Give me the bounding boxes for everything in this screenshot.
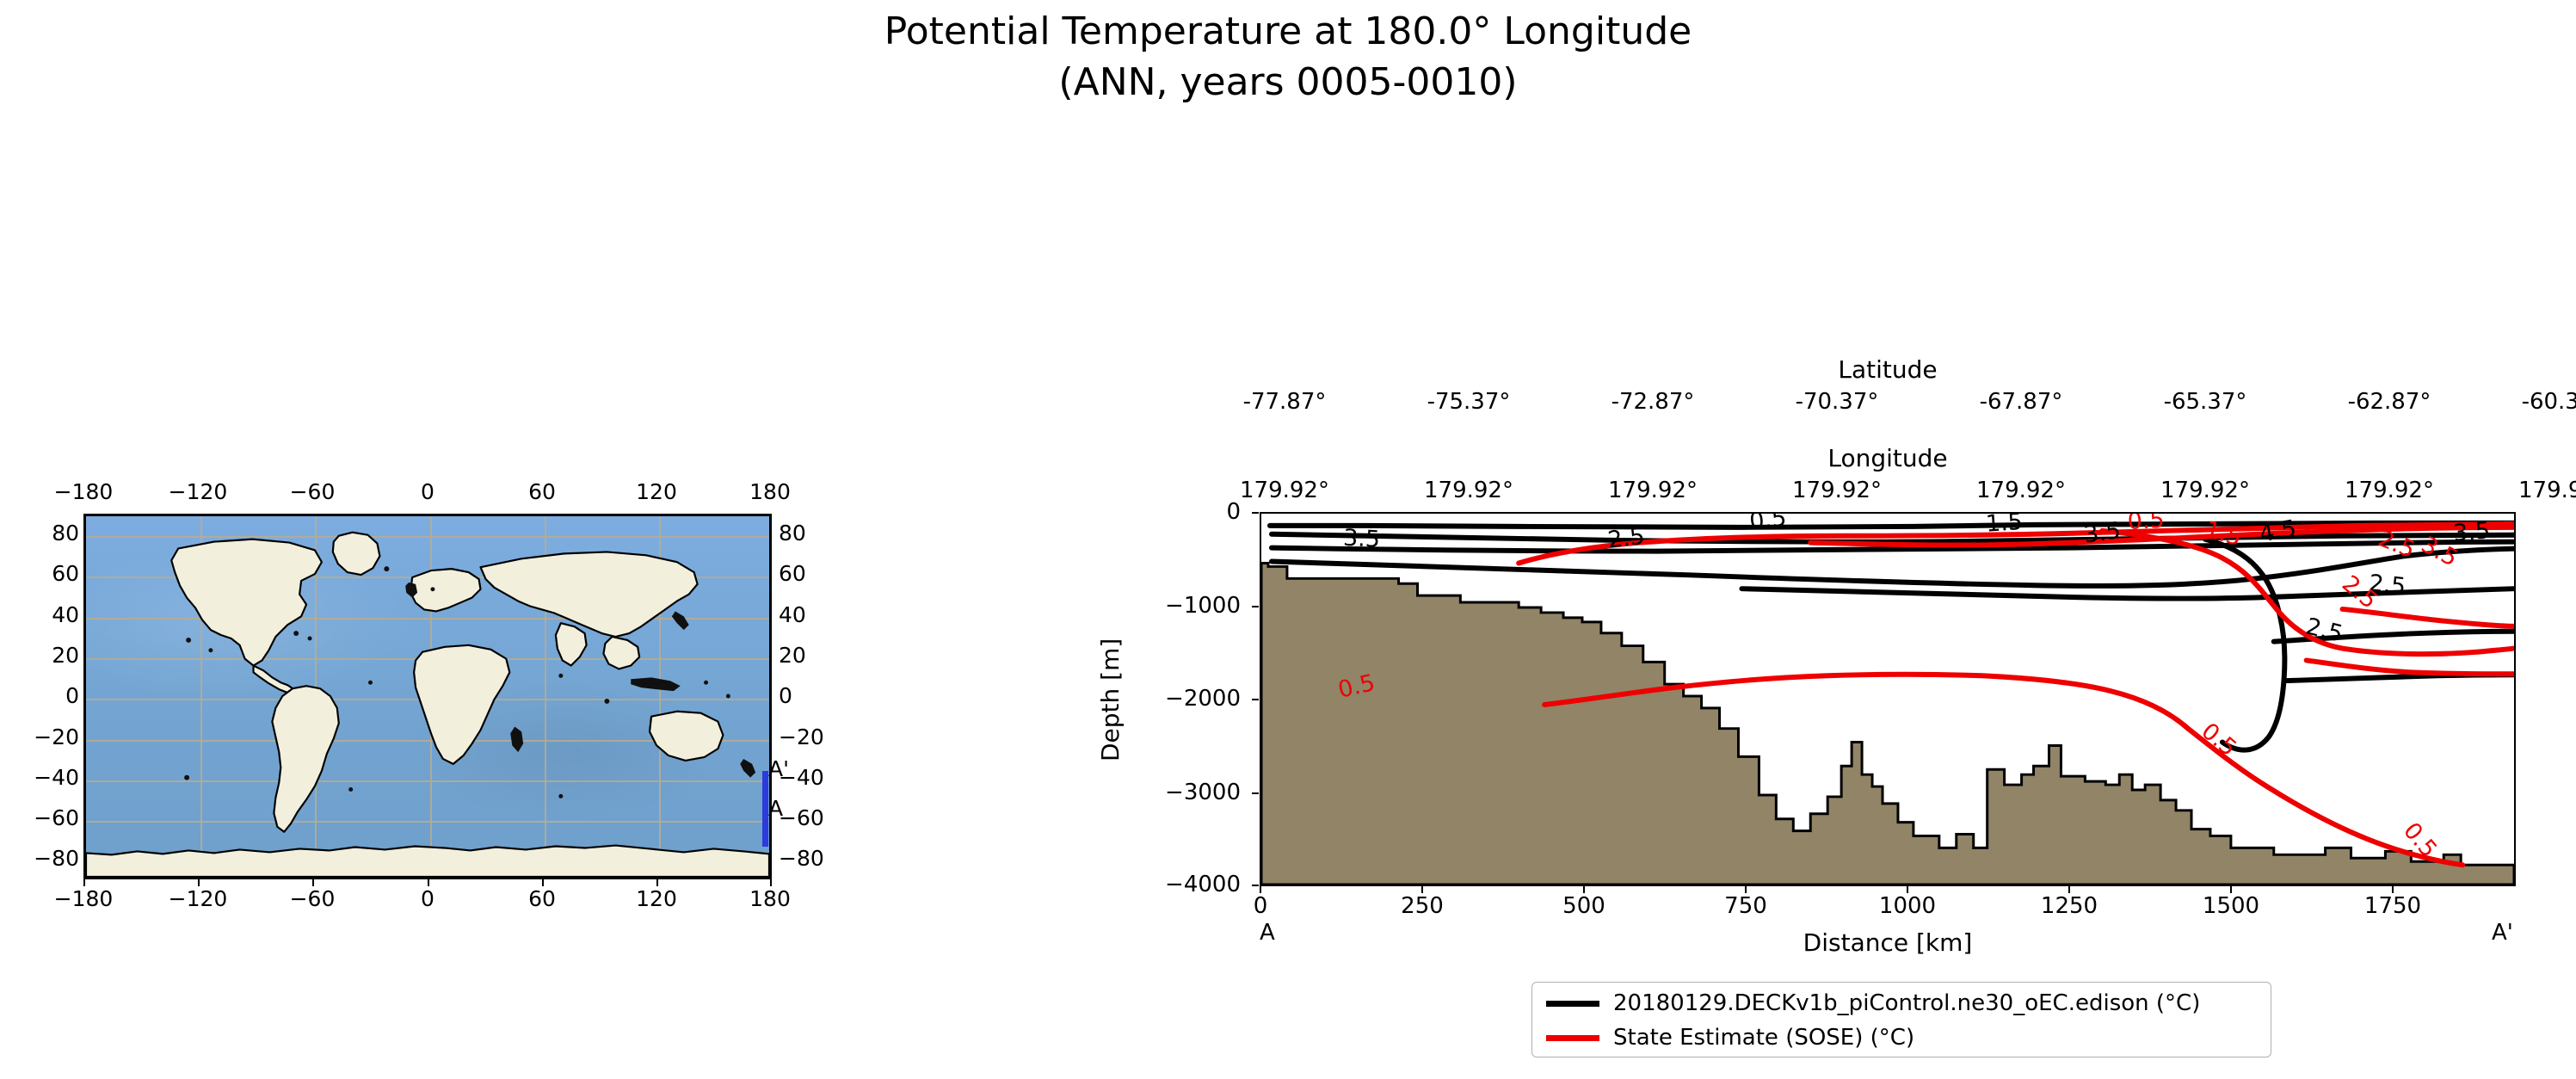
map-y-tick-label-right: 60 (779, 563, 806, 585)
cross-section-frame: 3.5 2.5 0.5 1.5 3.5 4.5 2.5 3.5 2.5 0.5 … (1260, 512, 2516, 886)
map-y-tick-label-left: −20 (25, 726, 79, 749)
map-y-tick-label-right: −80 (779, 848, 824, 870)
longitude-tick-label: 179.92° (1383, 478, 1555, 503)
xs-x-tick-label: 1500 (2145, 893, 2317, 919)
island-dot (186, 638, 191, 643)
legend-item-sose: State Estimate (SOSE) (°C) (1546, 1023, 1914, 1052)
contour-label-red-0p5-slope: 0.5 (2196, 718, 2241, 761)
legend-item-model: 20180129.DECKv1b_piControl.ne30_oEC.edis… (1546, 989, 2200, 1018)
contour-label-black-3p5-right: 3.5 (2452, 517, 2491, 546)
xs-y-tick (1252, 699, 1259, 700)
y-axis-title-depth: Depth [m] (1096, 638, 1125, 761)
map-y-tick-label-left: −40 (25, 767, 79, 789)
xs-x-tick (1260, 886, 1261, 893)
map-x-tick-label-bottom: 120 (605, 886, 708, 911)
landmass-japan (672, 611, 689, 630)
xs-y-tick-label: −4000 (1112, 872, 1241, 897)
island-dot (704, 681, 708, 685)
island-dot (558, 794, 563, 798)
map-x-tick-label: 0 (376, 479, 479, 504)
cross-section-plot: 3.5 2.5 0.5 1.5 3.5 4.5 2.5 3.5 2.5 0.5 … (1260, 512, 2516, 886)
xs-x-tick (1745, 886, 1747, 893)
map-y-tick-label-left: 60 (36, 563, 79, 585)
xs-x-tick (1421, 886, 1423, 893)
island-dot (558, 674, 563, 678)
map-x-tick-label: 120 (605, 479, 708, 504)
longitude-tick-label: 179.92° (1567, 478, 1739, 503)
map-x-tick (198, 879, 200, 886)
longitude-tick-label: 179.92° (2477, 478, 2576, 503)
island-dot (430, 587, 434, 591)
xs-x-tick (2392, 886, 2394, 893)
landmass-australia (650, 712, 723, 761)
xs-y-tick (1252, 792, 1259, 794)
xs-x-tick-label: 1750 (2307, 893, 2479, 919)
map-y-tick-label-left: −60 (25, 807, 79, 829)
map-y-tick-label-left: 80 (36, 522, 79, 545)
longitude-tick-label: 179.92° (2303, 478, 2475, 503)
island-dot (208, 648, 213, 652)
xs-x-tick-label: 1000 (1821, 893, 1994, 919)
latitude-tick-label: -72.87° (1567, 389, 1739, 415)
island-dot (368, 681, 373, 685)
legend-label-sose: State Estimate (SOSE) (°C) (1613, 1025, 1914, 1051)
latitude-tick-label: -75.37° (1383, 389, 1555, 415)
latitude-tick-label: -62.87° (2303, 389, 2475, 415)
map-y-tick-label-right: 40 (779, 604, 806, 626)
contour-label-red-0p5-top: 0.5 (2127, 514, 2165, 535)
island-dot (348, 787, 353, 792)
landmass-europe (410, 569, 480, 611)
island-dot (184, 775, 189, 780)
landmass-north-america (171, 539, 322, 666)
figure-title-line-1: Potential Temperature at 180.0° Longitud… (0, 7, 2576, 58)
map-y-tick-label-left: −80 (25, 848, 79, 870)
figure-title: Potential Temperature at 180.0° Longitud… (0, 7, 2576, 108)
map-y-tick-label-left: 20 (36, 644, 79, 667)
map-frame (83, 514, 772, 879)
map-x-tick (542, 879, 544, 886)
landmass-greenland (333, 533, 380, 575)
map-x-tick-label: −180 (32, 479, 135, 504)
xs-x-tick (2230, 886, 2232, 893)
map-x-tick-label: −60 (261, 479, 364, 504)
longitude-tick-label: 179.92° (1751, 478, 1923, 503)
contour-label-black-1p5: 1.5 (1985, 514, 2024, 538)
map-y-tick-label-right: 20 (779, 644, 806, 667)
contour-red-deep-right (2343, 609, 2514, 626)
map-y-tick-label-left: 40 (36, 604, 79, 626)
map-y-tick-label-right: −60 (779, 807, 824, 829)
legend-swatch-model (1546, 1001, 1599, 1007)
xs-x-tick (1583, 886, 1585, 893)
contour-label-black-2p5: 2.5 (1606, 523, 1646, 554)
island-dot (604, 699, 609, 704)
xs-y-tick (1252, 606, 1259, 607)
chart-legend: 20180129.DECKv1b_piControl.ne30_oEC.edis… (1531, 982, 2271, 1057)
latitude-axis-title: Latitude (1260, 355, 2516, 384)
xs-x-tick-label: 500 (1498, 893, 1670, 919)
landmass-southeast-asia (603, 637, 639, 669)
map-x-tick-label-bottom: −60 (261, 886, 364, 911)
map-x-tick-label-bottom: −180 (32, 886, 135, 911)
map-transect-label-end: A' (768, 758, 789, 780)
map-x-tick-label-bottom: 180 (718, 886, 822, 911)
map-x-tick (312, 879, 314, 886)
contour-red-deep-right-2 (2307, 660, 2514, 674)
xs-x-tick (1907, 886, 1908, 893)
landmass-central-america (254, 666, 293, 694)
contour-black-bottomwater-1 (1272, 549, 2514, 586)
landmass-africa (414, 645, 509, 764)
map-x-tick (656, 879, 658, 886)
xs-y-tick-label: −2000 (1112, 687, 1241, 711)
map-x-tick-label: −120 (146, 479, 250, 504)
latitude-tick-label: -65.37° (2119, 389, 2291, 415)
map-x-tick-label: 180 (718, 479, 822, 504)
contour-label-black-0p5: 0.5 (1748, 514, 1788, 535)
landmass-indonesia (631, 677, 681, 691)
landmass-new-zealand (740, 759, 755, 778)
longitude-tick-label: 179.92° (1935, 478, 2107, 503)
xs-x-tick (2068, 886, 2070, 893)
map-x-tick (428, 879, 429, 886)
latitude-tick-label: -60.37° (2477, 389, 2576, 415)
map-y-tick-label-right: 80 (779, 522, 806, 545)
xs-x-tick-label: 1250 (1983, 893, 2155, 919)
map-y-tick-label-right: 0 (779, 685, 792, 707)
map-transect-label-start: A (768, 798, 783, 819)
landmass-india (556, 623, 587, 665)
map-x-tick-label-bottom: −120 (146, 886, 250, 911)
map-x-tick (770, 879, 772, 886)
xs-y-tick-label: −3000 (1112, 780, 1241, 805)
contour-label-black-3p5: 3.5 (1342, 525, 1380, 553)
map-x-tick (83, 879, 85, 886)
island-dot (293, 631, 299, 636)
latitude-tick-label: -67.87° (1935, 389, 2107, 415)
xs-y-tick-label: 0 (1112, 500, 1241, 524)
legend-label-model: 20180129.DECKv1b_piControl.ne30_oEC.edis… (1613, 990, 2200, 1016)
landmass-south-america (272, 686, 338, 832)
contour-label-black-3p5-b: 3.5 (2082, 517, 2123, 549)
island-dot (308, 637, 312, 641)
landmass-antarctica (86, 846, 769, 877)
map-y-tick-label-left: 0 (36, 685, 79, 707)
legend-swatch-sose (1546, 1035, 1599, 1041)
landmass-asia (481, 552, 698, 637)
island-dot (384, 566, 389, 571)
xs-x-tick-label: 750 (1660, 893, 1832, 919)
longitude-axis-title: Longitude (1260, 444, 2516, 472)
contour-label-black-2p5-right: 2.5 (2303, 613, 2345, 648)
map-y-tick-label-right: −20 (779, 726, 824, 749)
coastlines-layer (86, 516, 769, 877)
landmass-madagascar (510, 726, 523, 752)
latitude-tick-label: -70.37° (1751, 389, 1923, 415)
x-axis-title-distance: Distance [km] (1260, 928, 2516, 957)
xs-y-tick (1252, 512, 1259, 514)
latitude-tick-label: -77.87° (1199, 389, 1371, 415)
map-x-tick-label-bottom: 60 (490, 886, 594, 911)
transect-line-A-Aprime (762, 771, 768, 847)
map-x-tick-label-bottom: 0 (376, 886, 479, 911)
cross-section-contours: 3.5 2.5 0.5 1.5 3.5 4.5 2.5 3.5 2.5 0.5 … (1261, 514, 2514, 885)
xs-y-tick-label: −1000 (1112, 594, 1241, 618)
bathymetry-mask (1261, 563, 2514, 885)
world-locator-map: −180 −120 −60 0 60 120 180 −180 −120 −60… (83, 514, 772, 879)
xs-x-tick-label: 250 (1336, 893, 1508, 919)
xs-y-tick (1252, 885, 1259, 886)
longitude-tick-label: 179.92° (2119, 478, 2291, 503)
figure-title-line-2: (ANN, years 0005-0010) (0, 58, 2576, 108)
map-x-tick-label: 60 (490, 479, 594, 504)
island-dot (726, 694, 730, 699)
